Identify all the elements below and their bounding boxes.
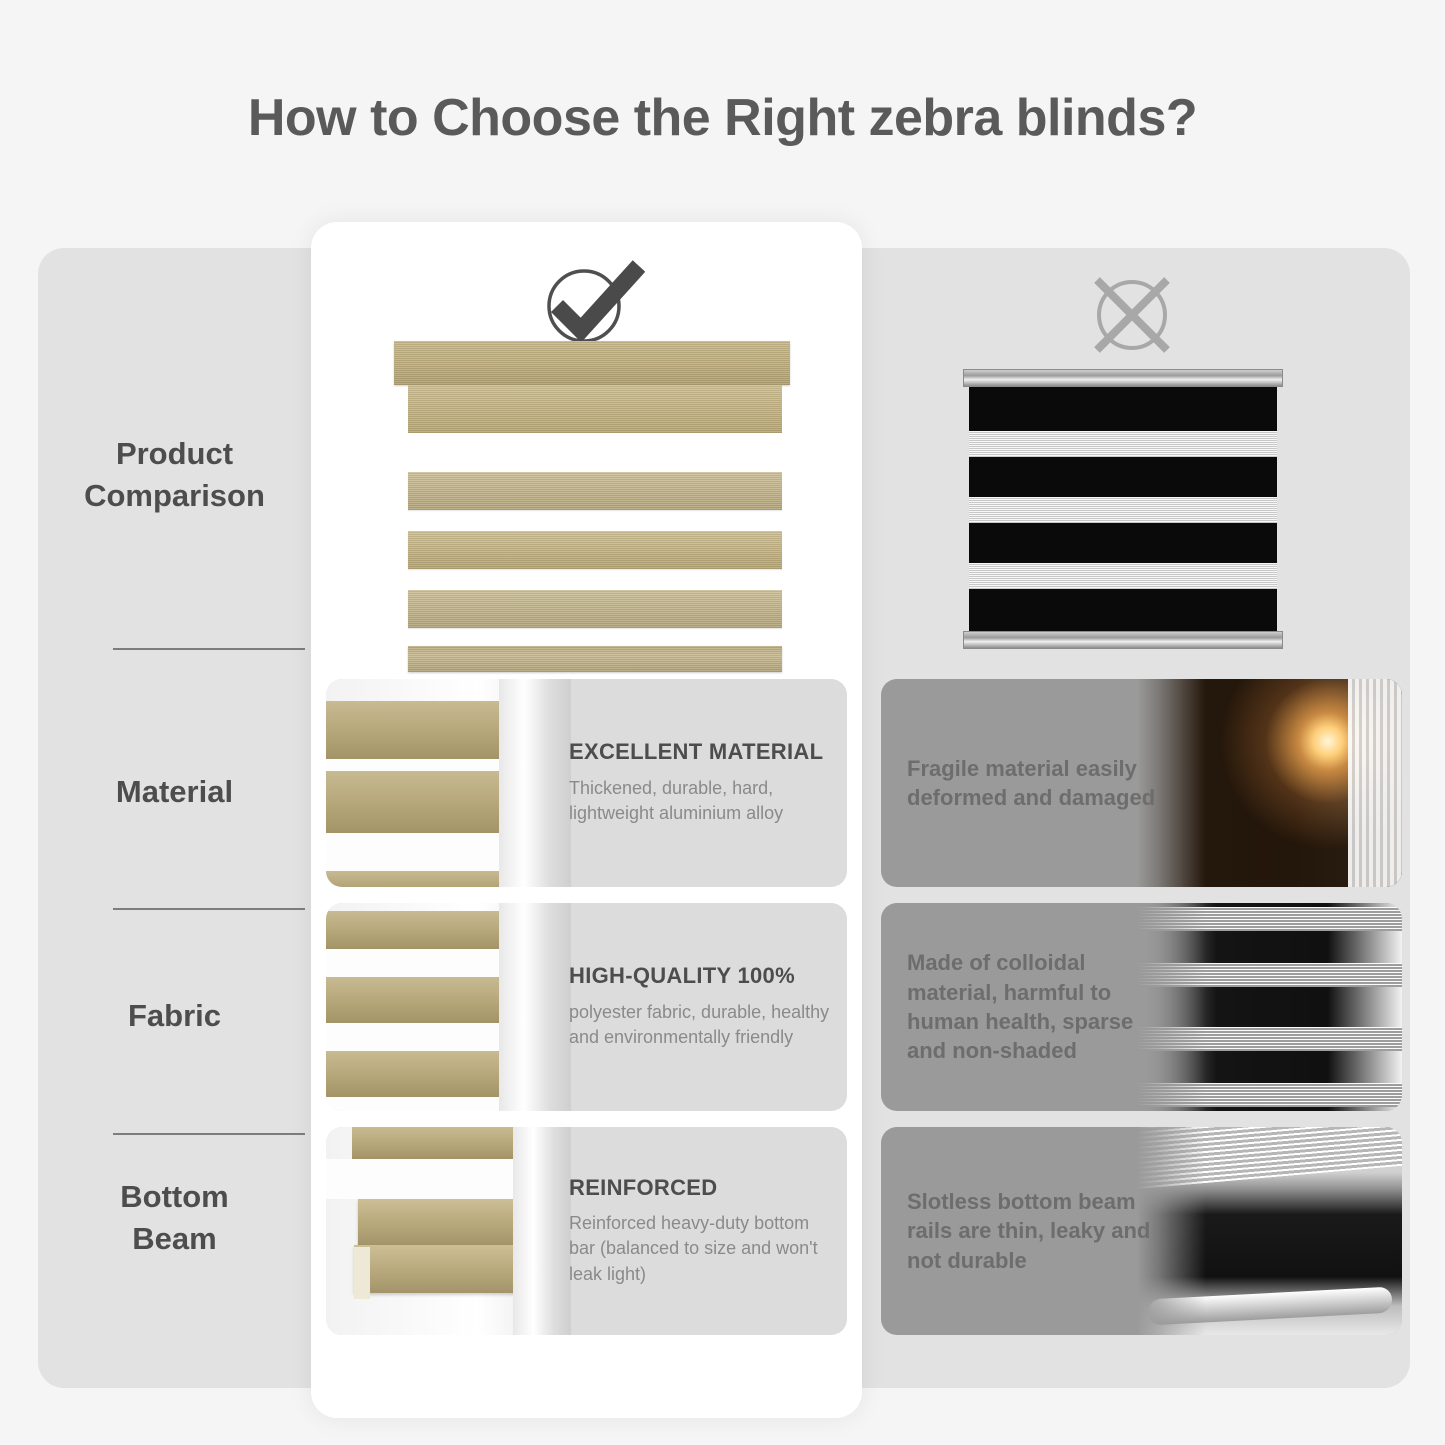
blind-sheer-band — [969, 497, 1277, 523]
feature-body: Fragile material easily deformed and dam… — [907, 754, 1157, 813]
row-label-product-comparison: Product Comparison — [38, 433, 311, 517]
blind-sheer-band — [969, 563, 1277, 589]
row-label-line-1: Bottom — [38, 1176, 311, 1218]
feature-card-bad-bottom-beam[interactable]: Slotless bottom beam rails are thin, lea… — [881, 1127, 1402, 1335]
feature-heading: REINFORCED — [569, 1175, 834, 1200]
blind-headrail — [394, 341, 790, 385]
feature-text: Made of colloidal material, harmful to h… — [907, 903, 1157, 1111]
feature-heading: EXCELLENT MATERIAL — [569, 739, 834, 764]
feature-body: Made of colloidal material, harmful to h… — [907, 948, 1157, 1066]
feature-photo-light-leak-window — [1137, 679, 1402, 887]
row-label-line-1: Fabric — [38, 995, 311, 1037]
feature-card-bad-fabric[interactable]: Made of colloidal material, harmful to h… — [881, 903, 1402, 1111]
row-divider-3 — [113, 1133, 305, 1135]
blind-top-slat — [408, 385, 782, 433]
blind-headrail — [963, 369, 1283, 387]
row-label-line-2: Comparison — [38, 475, 311, 517]
row-label-fabric: Fabric — [38, 995, 311, 1037]
feature-text: Fragile material easily deformed and dam… — [907, 679, 1157, 887]
feature-photo-aluminium-headrail — [326, 679, 571, 887]
feature-heading: HIGH-QUALITY 100% — [569, 963, 834, 988]
row-label-material: Material — [38, 771, 311, 813]
feature-body: Slotless bottom beam rails are thin, lea… — [907, 1187, 1157, 1275]
feature-text: REINFORCED Reinforced heavy-duty bottom … — [569, 1127, 834, 1335]
feature-photo-polyester-fabric — [326, 903, 571, 1111]
row-label-line-2: Beam — [38, 1218, 311, 1260]
blind-bottom-rail — [963, 631, 1283, 649]
feature-card-good-bottom-beam[interactable]: REINFORCED Reinforced heavy-duty bottom … — [326, 1127, 847, 1335]
blind-sheer-band — [969, 431, 1277, 457]
cross-circle-icon — [1085, 268, 1179, 362]
feature-photo-thin-bottom-rail — [1137, 1127, 1402, 1335]
feature-card-bad-material[interactable]: Fragile material easily deformed and dam… — [881, 679, 1402, 887]
row-divider-1 — [113, 648, 305, 650]
feature-card-good-material[interactable]: EXCELLENT MATERIAL Thickened, durable, h… — [326, 679, 847, 887]
feature-text: HIGH-QUALITY 100% polyester fabric, dura… — [569, 903, 834, 1111]
row-divider-2 — [113, 908, 305, 910]
blind-slat — [408, 590, 782, 628]
blind-bottom-bar — [408, 646, 782, 672]
row-label-column: Product Comparison Material Fabric Botto… — [38, 248, 311, 1388]
blind-slat — [408, 472, 782, 510]
black-zebra-blind-image — [963, 369, 1283, 649]
row-label-line-1: Material — [38, 771, 311, 813]
feature-body: Reinforced heavy-duty bottom bar (balanc… — [569, 1211, 834, 1288]
row-label-line-1: Product — [38, 433, 311, 475]
feature-body: polyester fabric, durable, healthy and e… — [569, 1000, 834, 1051]
feature-text: Slotless bottom beam rails are thin, lea… — [907, 1127, 1157, 1335]
row-label-bottom-beam: Bottom Beam — [38, 1176, 311, 1260]
feature-card-good-fabric[interactable]: HIGH-QUALITY 100% polyester fabric, dura… — [326, 903, 847, 1111]
feature-photo-sparse-fabric — [1137, 903, 1402, 1111]
feature-text: EXCELLENT MATERIAL Thickened, durable, h… — [569, 679, 834, 887]
page-title: How to Choose the Right zebra blinds? — [0, 88, 1445, 148]
blind-slat — [408, 531, 782, 569]
feature-body: Thickened, durable, hard, lightweight al… — [569, 776, 834, 827]
feature-photo-reinforced-bottom-bar — [326, 1127, 571, 1335]
check-circle-icon — [535, 252, 645, 347]
tan-zebra-blind-image — [394, 341, 790, 671]
blind-fabric — [969, 387, 1277, 631]
